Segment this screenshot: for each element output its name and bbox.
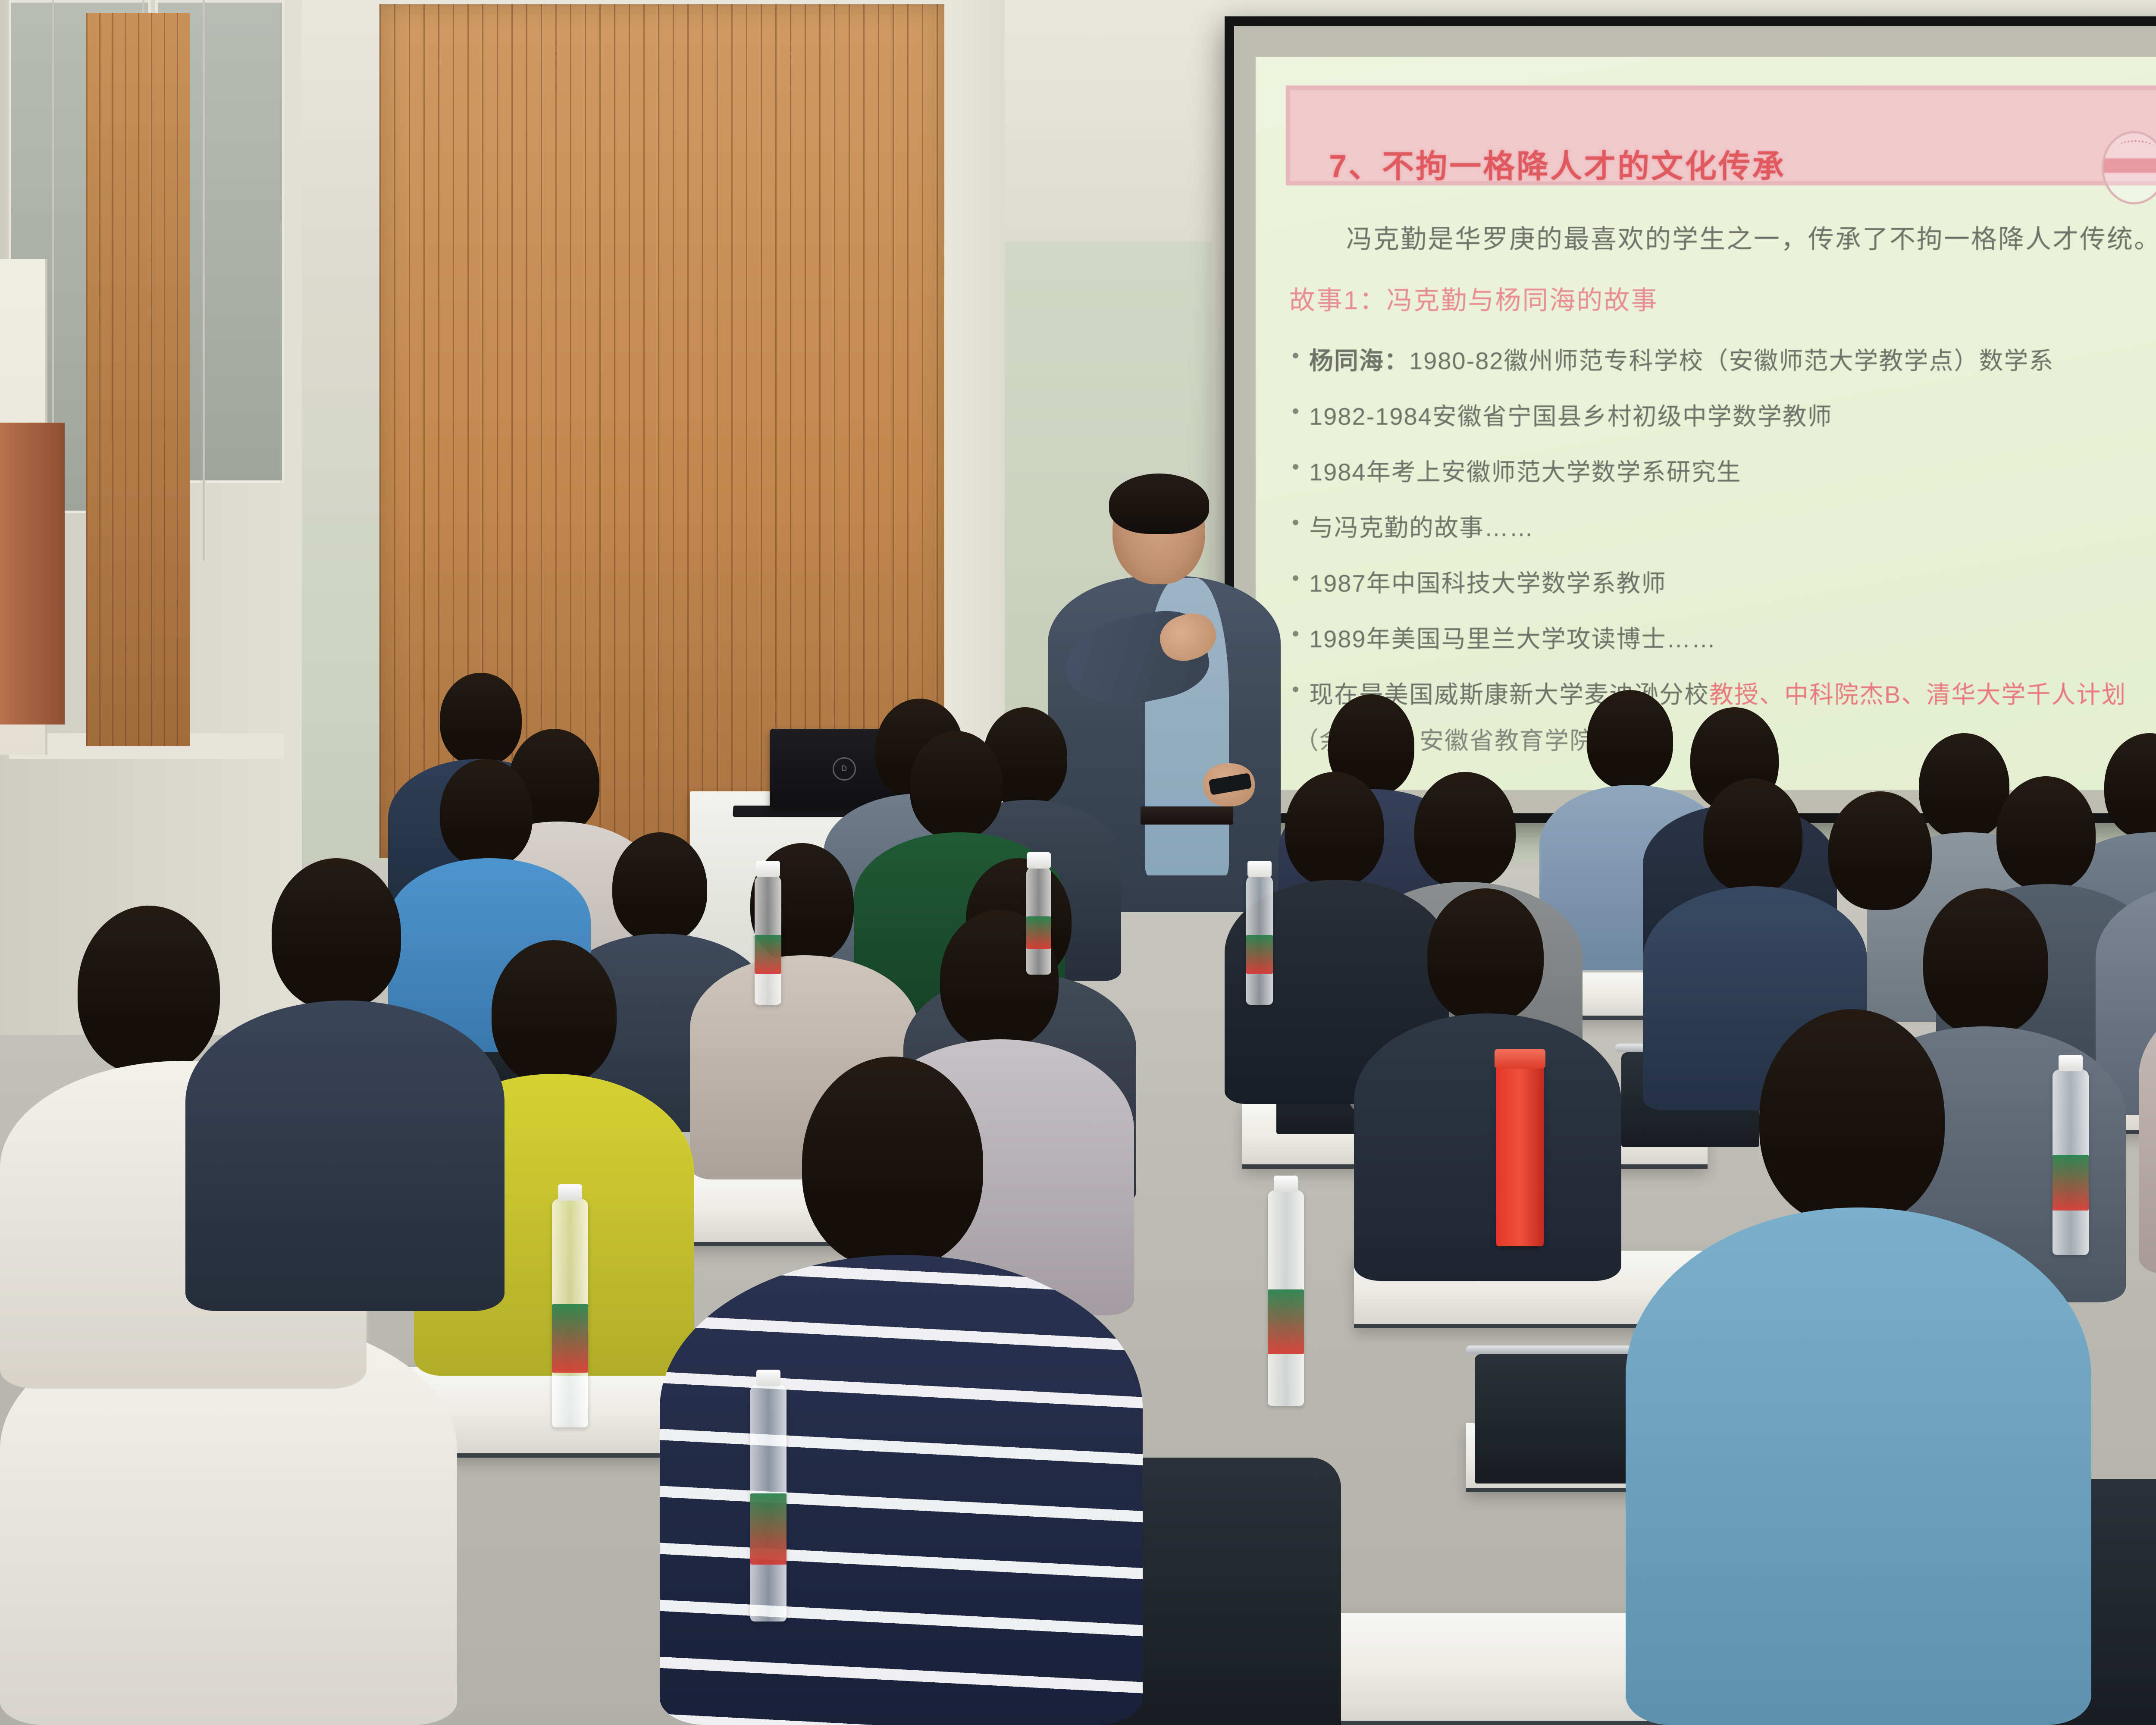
bullet-item: 与冯克勤的故事……: [1289, 508, 2156, 543]
bullet-dot-icon: [1293, 520, 1298, 525]
bottle-label: [1268, 1289, 1304, 1354]
bullet-item: 1989年美国马里兰大学攻读博士……: [1289, 620, 2156, 655]
bullet-dot-icon: [1293, 631, 1298, 637]
bullet-dot-icon: [1293, 687, 1298, 692]
university-logo: 合肥工业大学 HEFEI UNIVERSITY OF TECHNOLOGY: [2102, 131, 2156, 204]
bullet-text: 1984年考上安徽师范大学数学系研究生: [1309, 458, 1742, 486]
presenter-hair: [1109, 474, 1209, 534]
bottle-cap: [558, 1184, 582, 1201]
bottle-cap: [2059, 1055, 2083, 1071]
water-bottle[interactable]: [2053, 1069, 2089, 1255]
bullet-dot-icon: [1293, 408, 1298, 414]
water-bottle[interactable]: [552, 1199, 588, 1427]
blind-cord-icon: [203, 0, 205, 561]
bullet-text: 1987年中国科技大学数学系教师: [1309, 570, 1667, 597]
bottle-label: [2053, 1155, 2089, 1211]
slide-bullet-list: 杨同海：1980-82徽州师范专科学校（安徽师范大学教学点）数学系 1982-1…: [1289, 342, 2156, 756]
slide-title-bar: 7、不拘一格降人才的文化传承 合肥工业大学 HEFEI UNIVERSITY O…: [1286, 85, 2156, 185]
bullet-highlight-text: 教授、中科院杰B、清华大学千人计划: [1709, 681, 2126, 708]
bottle-label: [1246, 935, 1273, 974]
bottle-cap: [1274, 1176, 1298, 1192]
slide-story-heading: 故事1：冯克勤与杨同海的故事: [1289, 279, 1658, 317]
water-bottle[interactable]: [1268, 1190, 1304, 1406]
slide-lead-paragraph: 冯克勤是华罗庚的最喜欢的学生之一，传承了不拘一格降人才传统。: [1346, 218, 2156, 256]
water-bottle[interactable]: [750, 1384, 787, 1621]
bottle-cap: [756, 861, 780, 877]
dell-logo-icon: D: [833, 757, 856, 781]
bottle-cap: [1027, 852, 1051, 869]
bottle-cap: [1247, 861, 1272, 877]
bullet-text: 1980-82徽州师范专科学校（安徽师范大学教学点）数学系: [1409, 347, 2054, 374]
bullet-item: 杨同海：1980-82徽州师范专科学校（安徽师范大学教学点）数学系: [1289, 342, 2156, 376]
bullet-text: 1989年美国马里兰大学攻读博士……: [1309, 625, 1717, 652]
bullet-item: 1982-1984安徽省宁国县乡村初级中学数学教师: [1289, 397, 2156, 432]
bottle-label: [750, 1493, 787, 1565]
bullet-text: 1982-1984安徽省宁国县乡村初级中学数学教师: [1309, 403, 1833, 430]
bottle-label: [552, 1304, 588, 1373]
bullet-text: 与冯克勤的故事……: [1309, 514, 1534, 541]
university-emblem-icon: [2102, 131, 2156, 204]
thermos-cap: [1495, 1049, 1545, 1069]
bottle-label: [755, 935, 781, 974]
wood-trim-left: [0, 423, 65, 724]
bottle-label: [1026, 916, 1051, 949]
bullet-dot-icon: [1293, 353, 1298, 358]
bullet-item: 1987年中国科技大学数学系教师: [1289, 564, 2156, 599]
water-bottle[interactable]: [1026, 867, 1051, 975]
bullet-prefix: 杨同海：: [1309, 347, 1409, 374]
bottle-cap: [756, 1370, 780, 1386]
left-window-wall: [0, 0, 302, 1035]
presentation-slide: 7、不拘一格降人才的文化传承 合肥工业大学 HEFEI UNIVERSITY O…: [1256, 57, 2156, 790]
water-bottle[interactable]: [755, 875, 781, 1005]
presenter-belt: [1141, 806, 1233, 825]
bullet-dot-icon: [1293, 464, 1298, 470]
bullet-item: 现在是美国威斯康新大学麦迪逊分校教授、中科院杰B、清华大学千人计划: [1289, 675, 2156, 710]
classroom-photo: 7、不拘一格降人才的文化传承 合肥工业大学 HEFEI UNIVERSITY O…: [0, 0, 2156, 1725]
bullet-dot-icon: [1293, 575, 1298, 581]
slide-title: 7、不拘一格降人才的文化传承: [1329, 141, 1786, 187]
water-bottle[interactable]: [1246, 875, 1273, 1005]
bullet-item: 1984年考上安徽师范大学数学系研究生: [1289, 453, 2156, 488]
red-thermos[interactable]: [1496, 1065, 1544, 1246]
wood-slat-panel-left: [86, 13, 190, 746]
